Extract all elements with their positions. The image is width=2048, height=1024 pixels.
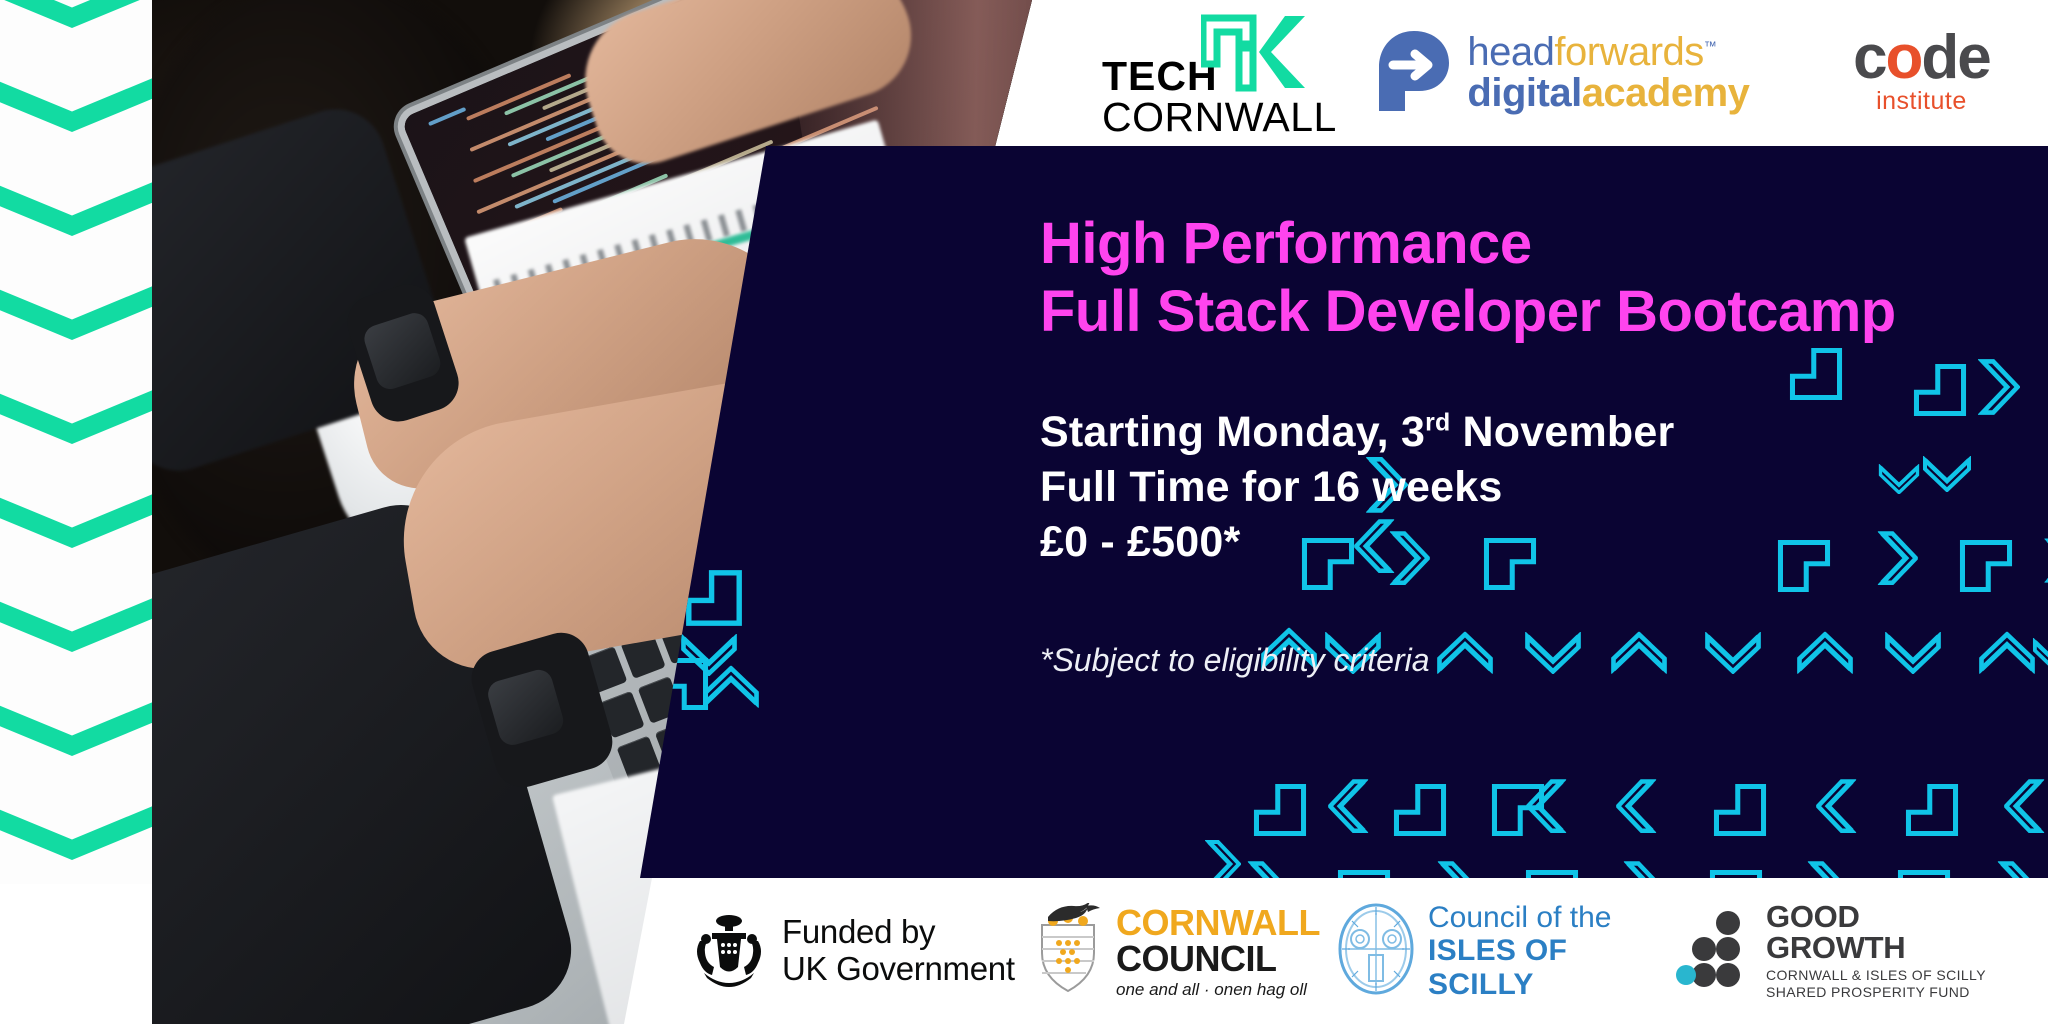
good-growth-line1: GOOD bbox=[1766, 901, 1986, 932]
cornwall-council-logo: CORNWALL COUNCIL one and all · onen hag … bbox=[1032, 903, 1332, 1000]
decorative-glyph bbox=[1518, 786, 1574, 826]
code-institute-de: de bbox=[1921, 23, 1989, 92]
tech-cornwall-line2: CORNWALL bbox=[1102, 97, 1345, 138]
cornwall-council-line2: COUNCIL bbox=[1116, 941, 1320, 977]
good-growth-dots-icon bbox=[1676, 909, 1752, 994]
detail-start-date: Starting Monday, 3rd November bbox=[1040, 405, 2000, 460]
decorative-glyph bbox=[1990, 868, 2046, 878]
uk-government-line1: Funded by bbox=[782, 914, 1015, 951]
decorative-glyph bbox=[1198, 846, 1248, 878]
headforwards-digital-text: digital bbox=[1467, 71, 1581, 115]
chevron-shape bbox=[0, 594, 152, 690]
decorative-glyph bbox=[2032, 638, 2048, 673]
isles-of-scilly-seal-icon bbox=[1336, 901, 1416, 1002]
chevron-shape bbox=[0, 490, 152, 586]
isles-of-scilly-line2: ISLES OF SCILLY bbox=[1428, 934, 1666, 1001]
decorative-glyph bbox=[1240, 868, 1296, 878]
decorative-glyph bbox=[1616, 868, 1672, 878]
decorative-glyph bbox=[702, 666, 760, 708]
royal-crest-icon bbox=[692, 911, 766, 992]
course-details: Starting Monday, 3rd November Full Time … bbox=[1040, 405, 2000, 570]
detail-start-date-post: November bbox=[1450, 408, 1674, 456]
cornwall-chough-crest-icon bbox=[1032, 903, 1104, 1000]
headforwards-academy-text: academy bbox=[1582, 71, 1750, 115]
headforwards-digital-academy-logo: headforwards™ digitalacademy bbox=[1375, 29, 1764, 118]
cornwall-council-motto: one and all · onen hag oll bbox=[1116, 981, 1320, 998]
chevron-shape bbox=[0, 282, 152, 378]
decorative-glyph bbox=[1320, 786, 1376, 826]
tech-cornwall-logo: TECH CORNWALL bbox=[1102, 8, 1345, 138]
funder-logo-bar: Funded by UK Government bbox=[624, 878, 2048, 1024]
headline: High Performance Full Stack Developer Bo… bbox=[1040, 210, 2000, 347]
headforwards-tm: ™ bbox=[1704, 39, 1717, 54]
detail-price: £0 - £500* bbox=[1040, 515, 2000, 570]
code-institute-c: c bbox=[1853, 23, 1885, 92]
decorative-glyph bbox=[1252, 782, 1308, 838]
chevron-shape bbox=[0, 698, 152, 794]
chevron-shape bbox=[0, 0, 152, 66]
headforwards-head-text: head bbox=[1467, 30, 1554, 74]
decorative-glyph bbox=[1896, 868, 1952, 878]
isles-of-scilly-logo: Council of the ISLES OF SCILLY bbox=[1336, 901, 1666, 1002]
main-copy: High Performance Full Stack Developer Bo… bbox=[1040, 146, 2000, 679]
headline-line2: Full Stack Developer Bootcamp bbox=[1040, 278, 2000, 346]
decorative-glyph bbox=[1430, 868, 1486, 878]
decorative-glyph bbox=[2038, 544, 2048, 577]
decorative-glyph bbox=[1712, 782, 1768, 838]
decorative-glyph bbox=[1996, 786, 2048, 826]
decorative-glyph bbox=[1336, 868, 1392, 878]
headforwards-head-icon bbox=[1375, 29, 1453, 118]
uk-government-line2: UK Government bbox=[782, 951, 1015, 988]
good-growth-line3: CORNWALL & ISLES OF SCILLY bbox=[1766, 967, 1986, 985]
tech-cornwall-mark bbox=[1201, 14, 1311, 97]
decorative-glyph bbox=[684, 568, 744, 628]
chevron-shape bbox=[0, 178, 152, 274]
chevron-shape bbox=[0, 386, 152, 482]
code-institute-o: o bbox=[1886, 23, 1922, 92]
good-growth-logo: GOOD GROWTH CORNWALL & ISLES OF SCILLY S… bbox=[1676, 901, 2016, 1002]
uk-government-logo: Funded by UK Government bbox=[692, 911, 1022, 992]
detail-start-date-pre: Starting Monday, 3 bbox=[1040, 408, 1425, 456]
decorative-glyph bbox=[1524, 868, 1580, 878]
decorative-glyph bbox=[1800, 868, 1856, 878]
headforwards-forwards-text: forwards bbox=[1554, 30, 1703, 74]
decorative-glyph bbox=[1808, 786, 1864, 826]
promotional-banner: TECH CORNWALL headforwards™ digitalacade… bbox=[0, 0, 2048, 1024]
decorative-glyph bbox=[1392, 782, 1448, 838]
chevron-decoration-strip bbox=[0, 0, 152, 884]
cornwall-council-line1: CORNWALL bbox=[1116, 905, 1320, 941]
isles-of-scilly-line1: Council of the bbox=[1428, 901, 1666, 935]
code-institute-subtitle: institute bbox=[1795, 87, 2048, 116]
code-institute-logo: code institute bbox=[1795, 30, 2048, 117]
detail-duration: Full Time for 16 weeks bbox=[1040, 460, 2000, 515]
chevron-shape bbox=[0, 802, 152, 884]
decorative-glyph bbox=[1904, 782, 1960, 838]
good-growth-line2: GROWTH bbox=[1766, 932, 1986, 963]
headline-line1: High Performance bbox=[1040, 210, 2000, 278]
chevron-shape bbox=[0, 74, 152, 170]
decorative-glyph bbox=[1608, 786, 1664, 826]
eligibility-footnote: *Subject to eligibility criteria bbox=[1040, 642, 2000, 679]
good-growth-line4: SHARED PROSPERITY FUND bbox=[1766, 984, 1986, 1002]
decorative-glyph bbox=[1708, 868, 1764, 878]
detail-start-date-sup: rd bbox=[1425, 409, 1450, 437]
